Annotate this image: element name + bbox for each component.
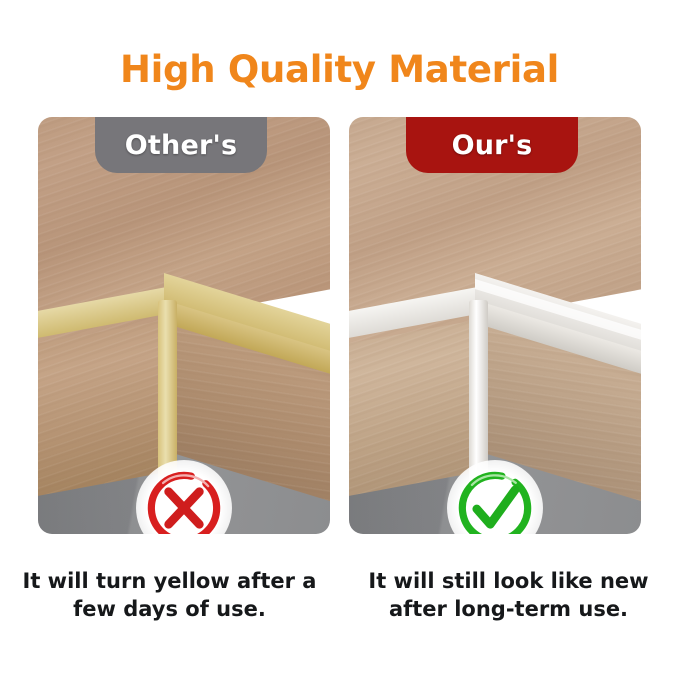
page-title: High Quality Material bbox=[0, 48, 679, 91]
cross-icon bbox=[136, 460, 232, 534]
badge-ours: Our's bbox=[406, 117, 578, 173]
badge-other: Other's bbox=[95, 117, 267, 173]
badge-other-label: Other's bbox=[125, 130, 237, 161]
caption-ours: It will still look like new after long-t… bbox=[339, 568, 678, 624]
comparison-panel-ours: Our's bbox=[349, 117, 641, 534]
captions-row: It will turn yellow after a few days of … bbox=[0, 568, 679, 624]
comparison-container: Other's Our's bbox=[38, 117, 641, 534]
comparison-panel-other: Other's bbox=[38, 117, 330, 534]
badge-ours-label: Our's bbox=[452, 130, 533, 161]
check-icon bbox=[447, 460, 543, 534]
caption-other: It will turn yellow after a few days of … bbox=[0, 568, 339, 624]
